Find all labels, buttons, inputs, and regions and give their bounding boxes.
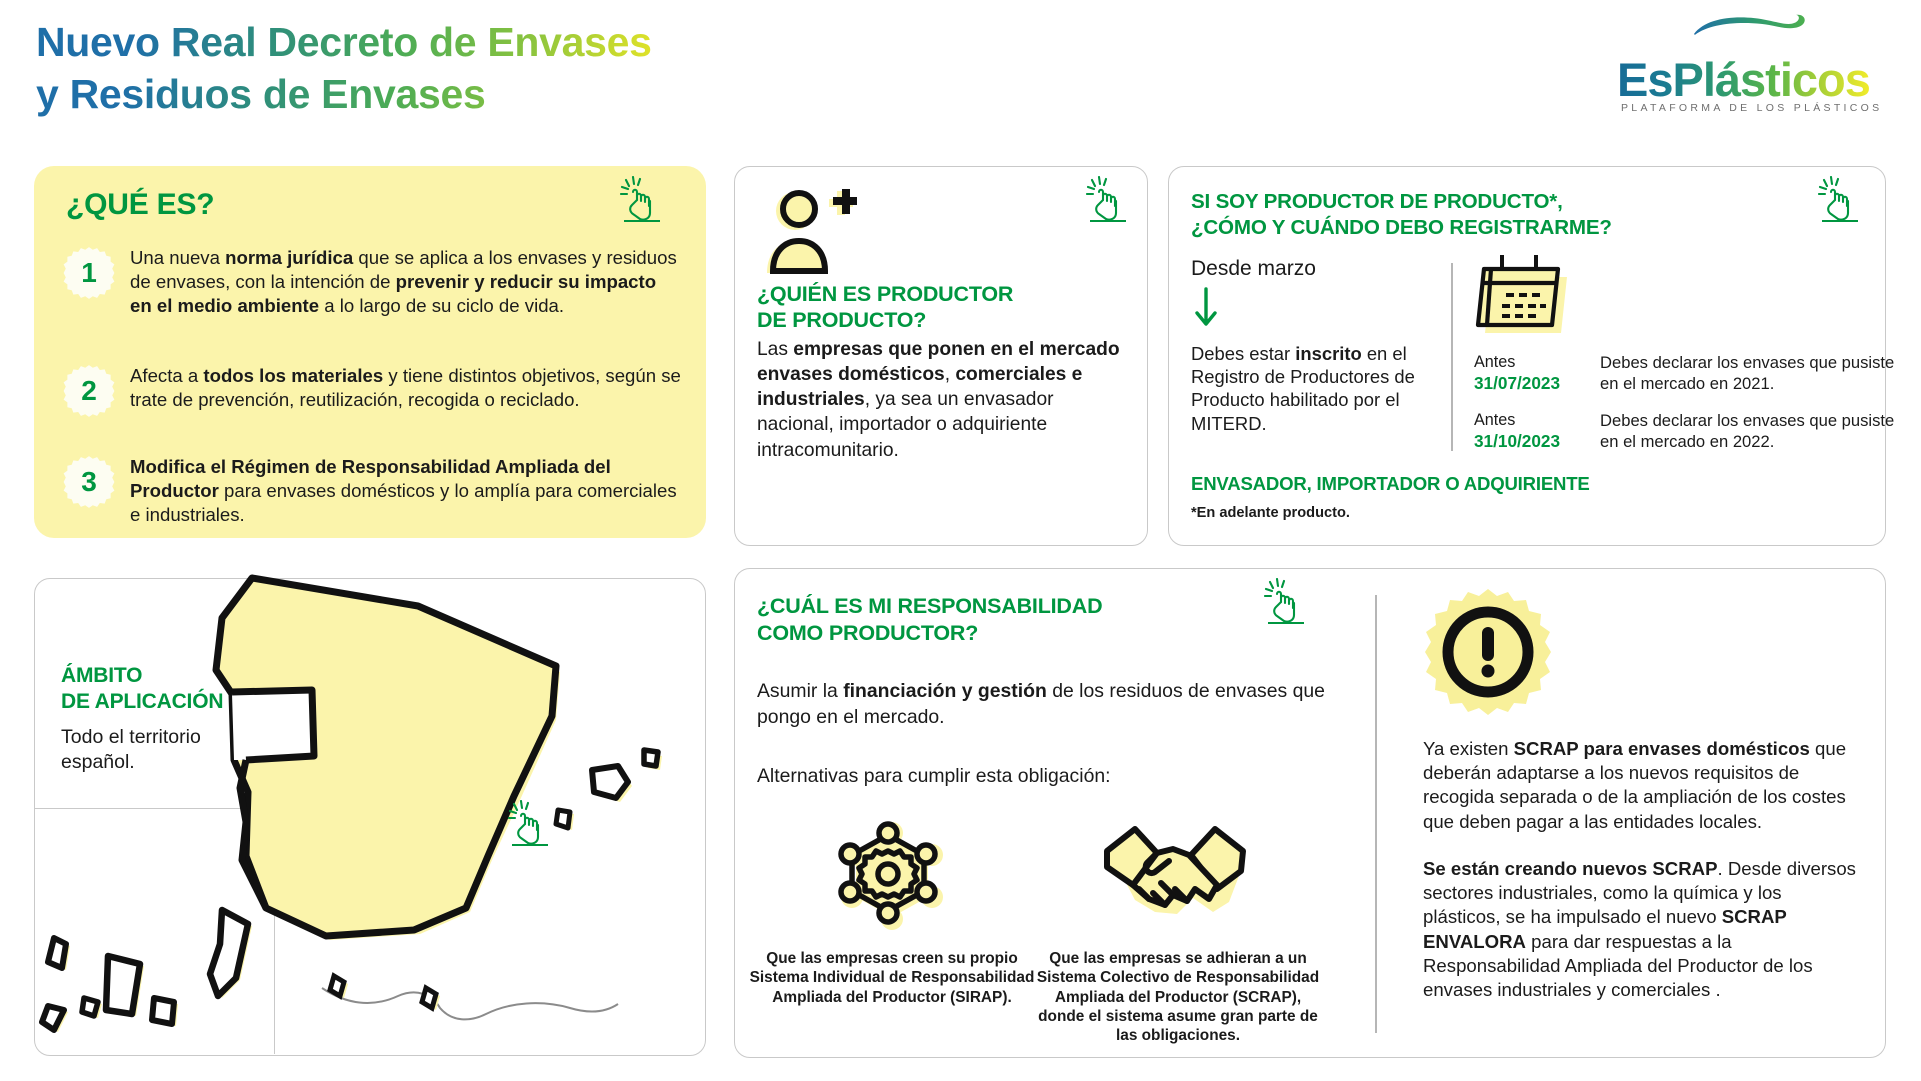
que-es-item-2: 2 Afecta a todos los materiales y tiene …: [62, 362, 682, 418]
number-badge-label: 3: [62, 455, 116, 509]
registro-title: SI SOY PRODUCTOR DE PRODUCTO*, ¿CÓMO Y C…: [1191, 189, 1612, 240]
que-es-item-1-text: Una nueva norma jurídica que se aplica a…: [130, 244, 682, 319]
logo-tagline: PLATAFORMA DE LOS PLÁSTICOS: [1621, 102, 1882, 114]
network-gear-icon: [749, 819, 1035, 935]
number-badge-icon: 1: [62, 246, 116, 300]
resp-title: ¿CUÁL ES MI RESPONSABILIDAD COMO PRODUCT…: [757, 593, 1102, 646]
registro-note: *En adelante producto.: [1191, 505, 1350, 521]
page-title: Nuevo Real Decreto de Envases y Residuos…: [36, 16, 652, 121]
person-plus-icon: [761, 189, 857, 275]
registro-date-1-value: 31/07/2023: [1474, 373, 1560, 393]
alternative-scrap-caption: Que las empresas se adhieran a un Sistem…: [1035, 949, 1321, 1045]
handshake-icon: [1035, 819, 1321, 935]
registro-footer: ENVASADOR, IMPORTADOR O ADQUIRIENTE: [1191, 473, 1590, 495]
ambito-body: Todo el territorio español.: [61, 725, 201, 774]
que-es-item-3-text: Modifica el Régimen de Responsabilidad A…: [130, 453, 682, 528]
registro-date-2-value: 31/10/2023: [1474, 431, 1560, 451]
tap-hand-icon[interactable]: [1264, 578, 1308, 624]
alternative-sirap-caption: Que las empresas creen su propio Sistema…: [749, 949, 1035, 1007]
number-badge-label: 1: [62, 246, 116, 300]
registro-date-row-2: Antes 31/10/2023 Debes declarar los enva…: [1474, 411, 1900, 453]
calendar-icon: [1474, 253, 1568, 335]
alternative-scrap: Que las empresas se adhieran a un Sistem…: [1035, 819, 1321, 1045]
tap-hand-icon[interactable]: [1818, 176, 1862, 222]
card-como-registrarme: SI SOY PRODUCTOR DE PRODUCTO*, ¿CÓMO Y C…: [1168, 166, 1886, 546]
tap-hand-icon[interactable]: [508, 800, 552, 846]
vertical-divider: [1451, 263, 1453, 451]
card-quien-es-productor: ¿QUIÉN ES PRODUCTOR DE PRODUCTO? Las emp…: [734, 166, 1148, 546]
quien-body: Las empresas que ponen en el mercado env…: [757, 337, 1129, 463]
arrow-down-icon: [1193, 287, 1219, 329]
ambito-title: ÁMBITO DE APLICACIÓN: [61, 663, 223, 714]
number-badge-icon: 3: [62, 455, 116, 509]
registro-date-1-label: Antes: [1474, 353, 1515, 371]
registro-date-2-desc: Debes declarar los envases que pusiste e…: [1600, 411, 1900, 453]
que-es-title: ¿QUÉ ES?: [66, 188, 214, 222]
logo-wordmark: EsPlásticos: [1617, 52, 1870, 107]
number-badge-icon: 2: [62, 364, 116, 418]
exclamation-badge-icon: [1423, 587, 1553, 717]
infographic-page: Nuevo Real Decreto de Envases y Residuos…: [0, 0, 1921, 1081]
resp-right-paragraph-1: Ya existen SCRAP para envases domésticos…: [1423, 737, 1863, 834]
esplasticos-logo: EsPlásticos PLATAFORMA DE LOS PLÁSTICOS: [1609, 14, 1899, 122]
alternative-sirap: Que las empresas creen su propio Sistema…: [749, 819, 1035, 1007]
registro-date-1-desc: Debes declarar los envases que pusiste e…: [1600, 353, 1900, 395]
card-responsabilidad-productor: ¿CUÁL ES MI RESPONSABILIDAD COMO PRODUCT…: [734, 568, 1886, 1058]
que-es-item-3: 3 Modifica el Régimen de Responsabilidad…: [62, 453, 682, 528]
card-que-es: ¿QUÉ ES? 1 Una nueva norma jurídica que …: [34, 166, 706, 538]
resp-right-paragraph-2: Se están creando nuevos SCRAP. Desde div…: [1423, 857, 1863, 1002]
number-badge-label: 2: [62, 364, 116, 418]
registro-date-1: Antes 31/07/2023: [1474, 353, 1600, 395]
registro-desde: Desde marzo: [1191, 257, 1441, 281]
canary-islands-inset: [35, 808, 275, 1054]
registro-date-row-1: Antes 31/07/2023 Debes declarar los enva…: [1474, 353, 1900, 395]
vertical-divider: [1375, 595, 1377, 1033]
que-es-item-2-text: Afecta a todos los materiales y tiene di…: [130, 362, 682, 418]
registro-date-2: Antes 31/10/2023: [1474, 411, 1600, 453]
registro-date-2-label: Antes: [1474, 411, 1515, 429]
que-es-item-1: 1 Una nueva norma jurídica que se aplica…: [62, 244, 682, 319]
resp-paragraph-2: Alternativas para cumplir esta obligació…: [757, 764, 1327, 790]
registro-left-column: Desde marzo Debes estar inscrito en el R…: [1191, 257, 1441, 435]
registro-left-text: Debes estar inscrito en el Registro de P…: [1191, 342, 1441, 435]
tap-hand-icon[interactable]: [620, 176, 664, 222]
tap-hand-icon[interactable]: [1086, 176, 1130, 222]
resp-paragraph-1: Asumir la financiación y gestión de los …: [757, 679, 1327, 730]
quien-title: ¿QUIÉN ES PRODUCTOR DE PRODUCTO?: [757, 281, 1013, 333]
